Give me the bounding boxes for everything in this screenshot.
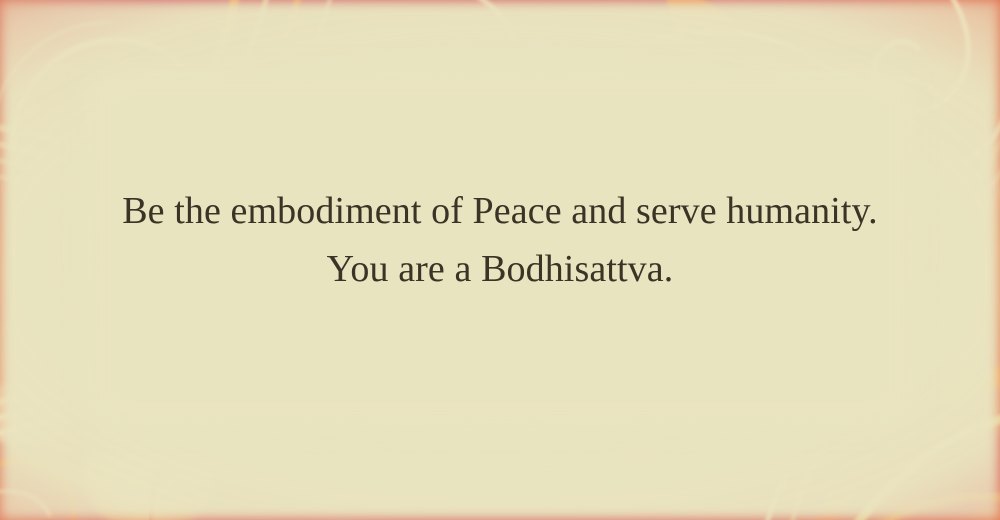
ornament-bottom-arc — [240, 497, 1000, 520]
quote-line-2: You are a Bodhisattva. — [0, 244, 1000, 294]
quote-block: Be the embodiment of Peace and serve hum… — [0, 186, 1000, 294]
quote-line-1: Be the embodiment of Peace and serve hum… — [0, 186, 1000, 236]
quote-card: Be the embodiment of Peace and serve hum… — [0, 0, 1000, 520]
ornament-bottom-left-spiral — [0, 461, 74, 520]
